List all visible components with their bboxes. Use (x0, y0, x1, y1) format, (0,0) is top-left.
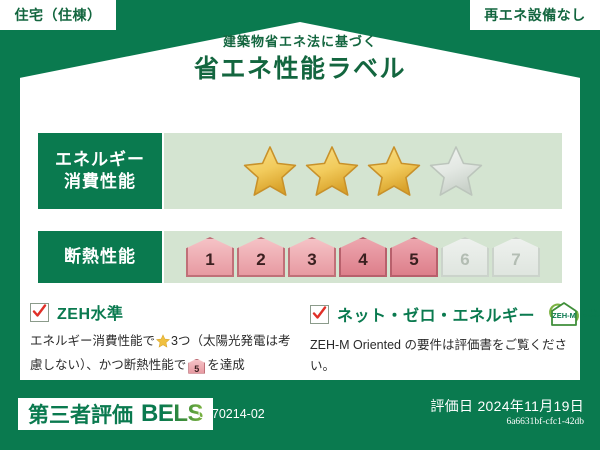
bels-jp-text: 第三者評価 (28, 399, 133, 429)
criteria-zeh-body-pre: エネルギー消費性能で (30, 334, 155, 348)
energy-performance-label-box: エネルギー 消費性能 (38, 133, 162, 209)
criteria-zeh-body-post: を達成 (207, 358, 245, 372)
inline-house-grade-icon: 5 (188, 359, 205, 374)
insulation-performance-value: 1234567 (164, 231, 562, 283)
bels-number: 0270214-02 (198, 407, 265, 421)
star-filled-icon (242, 144, 298, 198)
criteria-zeh-level-title: ZEH水準 (57, 300, 124, 324)
evaluation-date: 評価日 2024年11月19日 (430, 396, 584, 416)
energy-performance-label-line1: エネルギー (55, 149, 145, 171)
inline-star-icon (156, 334, 170, 355)
criteria-zeh-level-body: エネルギー消費性能で3つ（太陽光発電は考慮しない）、かつ断熱性能で5を達成 (30, 331, 300, 375)
insulation-grade-achieved: 4 (339, 237, 387, 277)
criteria-net-zero-title: ネット・ゼロ・エネルギー (337, 302, 535, 326)
insulation-performance-label-line1: 断熱性能 (64, 246, 136, 268)
insulation-grade-achieved: 3 (288, 237, 336, 277)
insulation-performance-row: 断熱性能 1234567 (38, 231, 562, 283)
insulation-grade-achieved: 5 (390, 237, 438, 277)
bels-badge: 第三者評価 BELS (18, 398, 213, 430)
label-footer: 第三者評価 BELS 0270214-02 評価日 2024年11月19日 6a… (0, 380, 600, 450)
bels-en-text: BELS (141, 400, 203, 428)
building-type-tag-text: 住宅（住棟） (15, 5, 102, 25)
star-filled-icon (366, 144, 422, 198)
insulation-grade-inactive: 7 (492, 237, 540, 277)
energy-performance-value (164, 133, 562, 209)
star-rating (242, 144, 484, 198)
insulation-grade-achieved: 2 (237, 237, 285, 277)
evaluation-id: 6a6631bf-cfc1-42db (506, 417, 584, 427)
building-type-tag: 住宅（住棟） (0, 0, 116, 30)
criteria-net-zero-header: ネット・ゼロ・エネルギー ZEH-M ZEH-M Oriented (310, 300, 580, 328)
star-filled-icon (304, 144, 360, 198)
energy-performance-row: エネルギー 消費性能 (38, 133, 562, 209)
insulation-grade-inactive: 6 (441, 237, 489, 277)
svg-text:ZEH-M: ZEH-M (552, 311, 576, 320)
criteria-zeh-level-header: ZEH水準 (30, 300, 300, 324)
checkbox-checked-icon (310, 305, 329, 324)
checkbox-checked-icon (30, 303, 49, 322)
renewable-energy-tag: 再エネ設備なし (470, 0, 600, 30)
insulation-grade-scale: 1234567 (186, 237, 540, 277)
energy-performance-label: 住宅（住棟） 再エネ設備なし 建築物省エネ法に基づく 省エネ性能ラベル エネルギ… (0, 0, 600, 450)
criteria-zeh-level: ZEH水準 エネルギー消費性能で3つ（太陽光発電は考慮しない）、かつ断熱性能で5… (30, 300, 300, 375)
zeh-m-oriented-mark: ZEH-M ZEH-M Oriented (547, 300, 600, 328)
insulation-grade-achieved: 1 (186, 237, 234, 277)
energy-performance-label-line2: 消費性能 (64, 171, 136, 193)
renewable-energy-tag-text: 再エネ設備なし (484, 5, 586, 25)
insulation-performance-label-box: 断熱性能 (38, 231, 162, 283)
criteria-net-zero-energy: ネット・ゼロ・エネルギー ZEH-M ZEH-M Oriented ZEH-M … (310, 300, 580, 376)
criteria-net-zero-body: ZEH-M Oriented の要件は評価書をご覧ください。 (310, 335, 580, 376)
zeh-m-sub-line2: Oriented (583, 314, 600, 319)
star-empty-icon (428, 144, 484, 198)
